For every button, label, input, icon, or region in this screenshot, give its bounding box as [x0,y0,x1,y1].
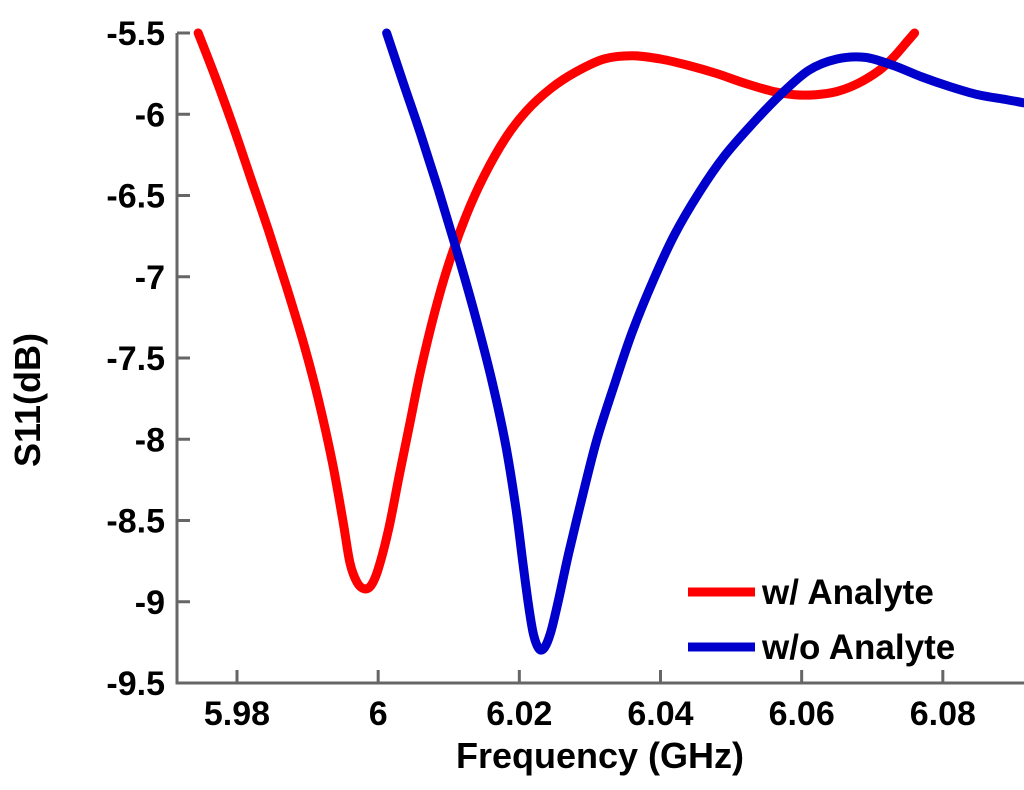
y-axis-title: S11(dB) [7,333,48,467]
x-axis-tick-labels: 5.9866.026.046.066.08 [204,695,976,733]
legend-label-with-analyte: w/ Analyte [761,573,934,612]
x-tick-label: 6.02 [486,695,552,733]
y-tick-label: -6.5 [106,178,165,216]
series-line-with-analyte [198,33,914,589]
y-axis-tick-labels: -9.5-9-8.5-8-7.5-7-6.5-6-5.5 [106,15,165,703]
axes-group: -9.5-9-8.5-8-7.5-7-6.5-6-5.5 5.9866.026.… [106,15,1024,733]
x-tick-label: 6.08 [910,695,976,733]
x-axis-ticks [237,670,943,683]
y-tick-label: -8 [135,421,165,459]
chart-page: -9.5-9-8.5-8-7.5-7-6.5-6-5.5 5.9866.026.… [0,0,1024,790]
x-tick-label: 6 [369,695,388,733]
y-tick-label: -7.5 [106,340,165,378]
y-tick-label: -9.5 [106,665,165,703]
y-tick-label: -9 [135,584,165,622]
s11-frequency-plot: -9.5-9-8.5-8-7.5-7-6.5-6-5.5 5.9866.026.… [0,0,1024,790]
y-tick-label: -7 [135,259,165,297]
legend: w/ Analyte w/o Analyte [688,573,955,667]
x-tick-label: 6.04 [627,695,693,733]
y-tick-label: -6 [135,96,165,134]
series-line-without-analyte [387,33,1024,650]
series-group [198,33,1024,650]
y-axis-ticks [177,33,190,683]
y-tick-label: -8.5 [106,503,165,541]
legend-label-without-analyte: w/o Analyte [761,628,955,667]
x-axis-title: Frequency (GHz) [456,735,744,776]
x-tick-label: 6.06 [769,695,835,733]
y-tick-label: -5.5 [106,15,165,53]
x-tick-label: 5.98 [204,695,270,733]
